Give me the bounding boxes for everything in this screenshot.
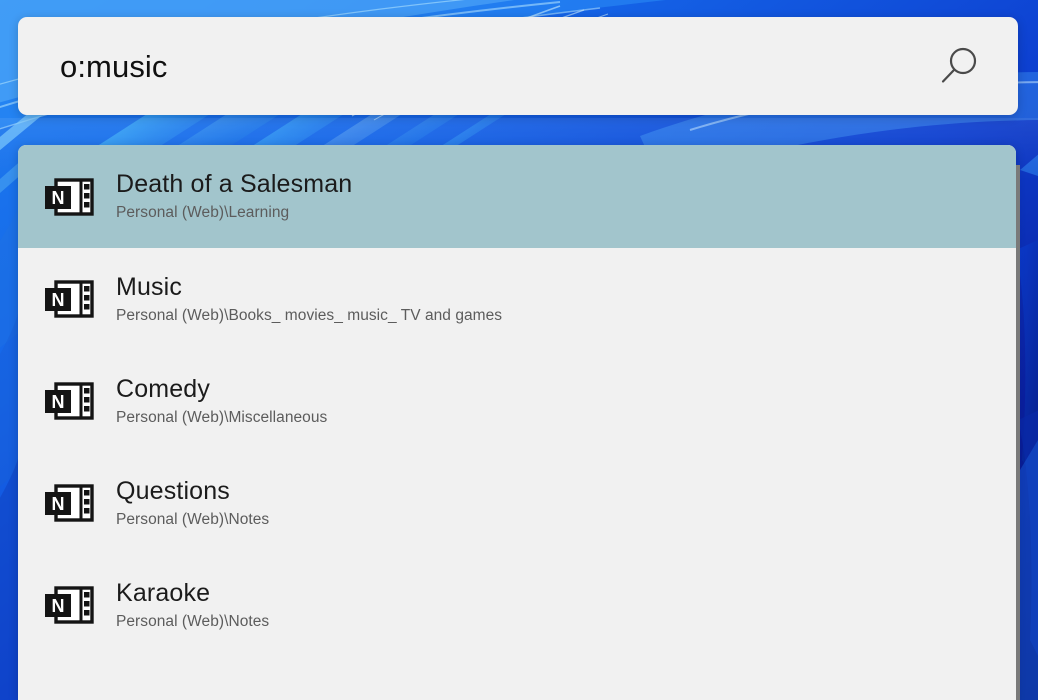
onenote-icon: N bbox=[41, 276, 97, 322]
result-subtitle: Personal (Web)\Notes bbox=[116, 612, 1016, 631]
result-title: Karaoke bbox=[116, 579, 1016, 607]
onenote-icon: N bbox=[41, 582, 97, 628]
result-row[interactable]: N Questions Personal (Web)\Notes bbox=[18, 452, 1016, 554]
search-icon bbox=[937, 44, 981, 88]
svg-text:N: N bbox=[52, 392, 65, 412]
svg-text:N: N bbox=[52, 494, 65, 514]
result-row[interactable]: N Music Personal (Web)\Books_ movies_ mu… bbox=[18, 248, 1016, 350]
onenote-icon: N bbox=[41, 174, 97, 220]
search-button[interactable] bbox=[932, 39, 986, 93]
result-title: Music bbox=[116, 273, 1016, 301]
result-title: Comedy bbox=[116, 375, 1016, 403]
onenote-icon: N bbox=[41, 378, 97, 424]
result-title: Questions bbox=[116, 477, 1016, 505]
results-scrollbar[interactable] bbox=[1016, 165, 1020, 700]
result-subtitle: Personal (Web)\Learning bbox=[116, 203, 1016, 222]
onenote-icon: N bbox=[41, 480, 97, 526]
result-row[interactable]: N Karaoke Personal (Web)\Notes bbox=[18, 554, 1016, 656]
svg-text:N: N bbox=[52, 290, 65, 310]
result-subtitle: Personal (Web)\Miscellaneous bbox=[116, 408, 1016, 427]
search-input[interactable]: o:music bbox=[60, 51, 932, 82]
search-box[interactable]: o:music bbox=[18, 17, 1018, 115]
result-subtitle: Personal (Web)\Notes bbox=[116, 510, 1016, 529]
result-subtitle: Personal (Web)\Books_ movies_ music_ TV … bbox=[116, 306, 1016, 325]
result-row[interactable]: N Comedy Personal (Web)\Miscellaneous bbox=[18, 350, 1016, 452]
result-row[interactable]: N Death of a Salesman Personal (Web)\Lea… bbox=[18, 145, 1016, 248]
result-title: Death of a Salesman bbox=[116, 170, 1016, 198]
svg-text:N: N bbox=[52, 188, 65, 208]
svg-text:N: N bbox=[52, 596, 65, 616]
search-results-panel: N Death of a Salesman Personal (Web)\Lea… bbox=[18, 145, 1016, 700]
